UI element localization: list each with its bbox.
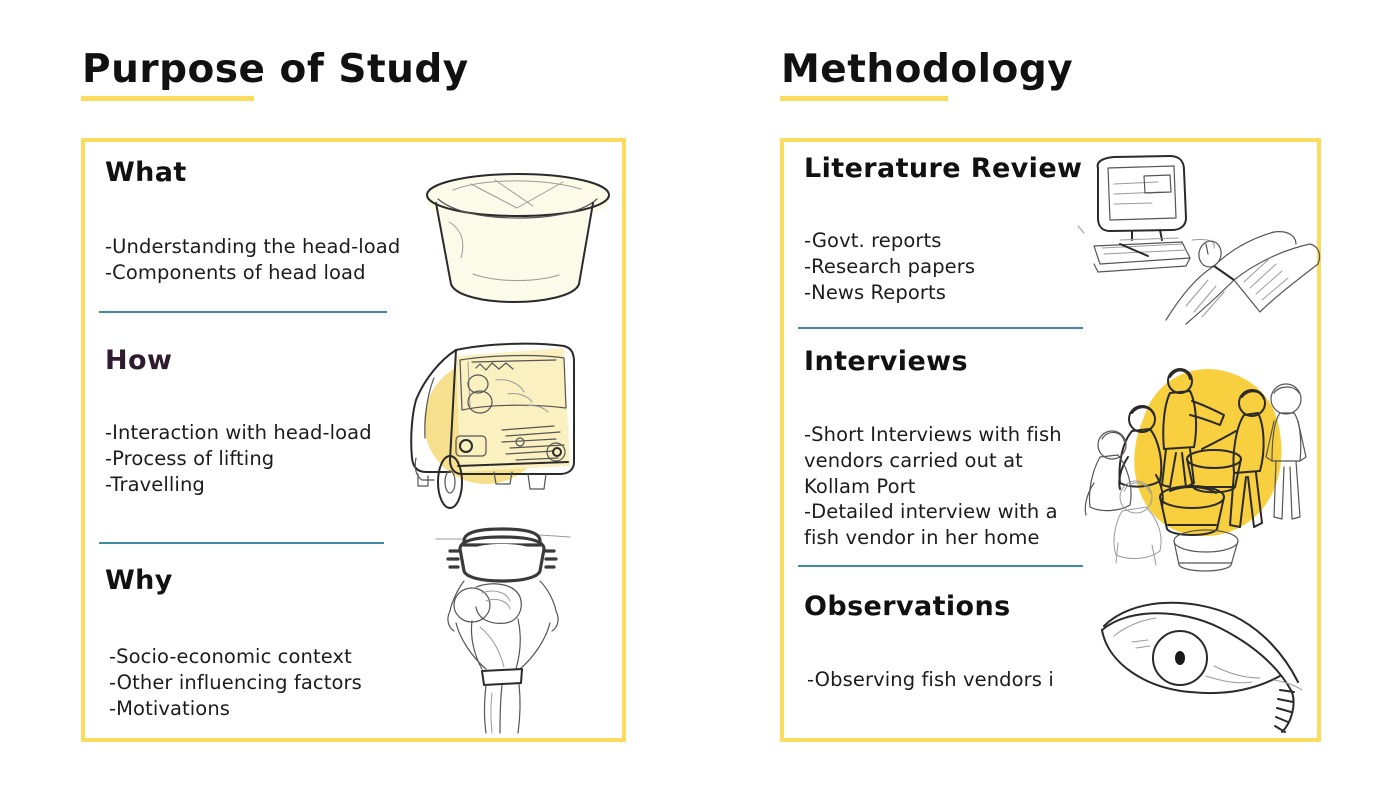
list-item: -Motivations xyxy=(109,696,409,722)
section-how: How -Interaction with head-load -Process… xyxy=(105,346,405,497)
computer-and-book-sketch-icon xyxy=(1074,154,1324,324)
bullet-list-why: -Socio-economic context -Other influenci… xyxy=(105,644,409,722)
list-item: -Observing fish vendors i xyxy=(807,667,1077,693)
market-scene-sketch-icon xyxy=(1084,357,1324,572)
section-observations: Observations -Observing fish vendors i xyxy=(804,592,1077,693)
section-heading-why: Why xyxy=(105,566,409,596)
section-divider-literature-review xyxy=(798,327,1083,329)
section-literature-review: Literature Review -Govt. reports -Resear… xyxy=(804,154,1082,305)
page-title-methodology: Methodology xyxy=(781,50,1073,89)
list-item: -Process of lifting xyxy=(105,446,405,472)
bullet-list-observations: -Observing fish vendors i xyxy=(804,667,1077,693)
title-underline-right xyxy=(780,96,948,101)
list-item: -Components of head load xyxy=(105,260,435,286)
section-heading-how: How xyxy=(105,346,405,376)
section-divider-what xyxy=(99,311,387,313)
list-item: -Govt. reports xyxy=(804,228,1064,254)
bullet-list-literature-review: -Govt. reports -Research papers -News Re… xyxy=(804,228,1064,306)
list-item: -Research papers xyxy=(804,254,1064,280)
bullet-list-what: -Understanding the head-load -Components… xyxy=(105,234,435,286)
list-item: -Short Interviews with fish vendors carr… xyxy=(804,422,1092,500)
methodology-panel: Literature Review -Govt. reports -Resear… xyxy=(780,138,1321,742)
section-divider-how xyxy=(99,542,384,544)
section-heading-observations: Observations xyxy=(804,592,1077,622)
list-item: -Socio-economic context xyxy=(109,644,409,670)
list-item: -News Reports xyxy=(804,280,1064,306)
section-interviews: Interviews -Short Interviews with fish v… xyxy=(804,347,1092,551)
list-item: -Understanding the head-load xyxy=(105,234,435,260)
list-item: -Other influencing factors xyxy=(109,670,409,696)
bullet-list-how: -Interaction with head-load -Process of … xyxy=(105,420,405,498)
page-title-purpose-of-study: Purpose of Study xyxy=(82,50,469,89)
woman-carrying-headload-sketch-icon xyxy=(420,527,585,737)
eye-sketch-icon xyxy=(1094,582,1329,737)
section-what: What -Understanding the head-load -Compo… xyxy=(105,158,435,286)
title-underline-left xyxy=(81,96,254,101)
list-item: -Detailed interview with a fish vendor i… xyxy=(804,499,1092,551)
basin-sketch-icon xyxy=(413,162,618,307)
list-item: -Interaction with head-load xyxy=(105,420,405,446)
section-heading-what: What xyxy=(105,158,435,188)
section-why: Why -Socio-economic context -Other influ… xyxy=(105,566,409,721)
slide-canvas: Purpose of Study What -Understanding the… xyxy=(0,0,1400,788)
section-heading-interviews: Interviews xyxy=(804,347,1092,377)
bullet-list-interviews: -Short Interviews with fish vendors carr… xyxy=(804,422,1092,552)
list-item: -Travelling xyxy=(105,472,405,498)
left-column: Purpose of Study What -Understanding the… xyxy=(80,0,690,788)
right-column: Methodology Literature Review -Govt. rep… xyxy=(779,0,1389,788)
section-divider-interviews xyxy=(798,565,1083,567)
section-heading-literature-review: Literature Review xyxy=(804,154,1082,184)
purpose-panel: What -Understanding the head-load -Compo… xyxy=(81,138,626,742)
